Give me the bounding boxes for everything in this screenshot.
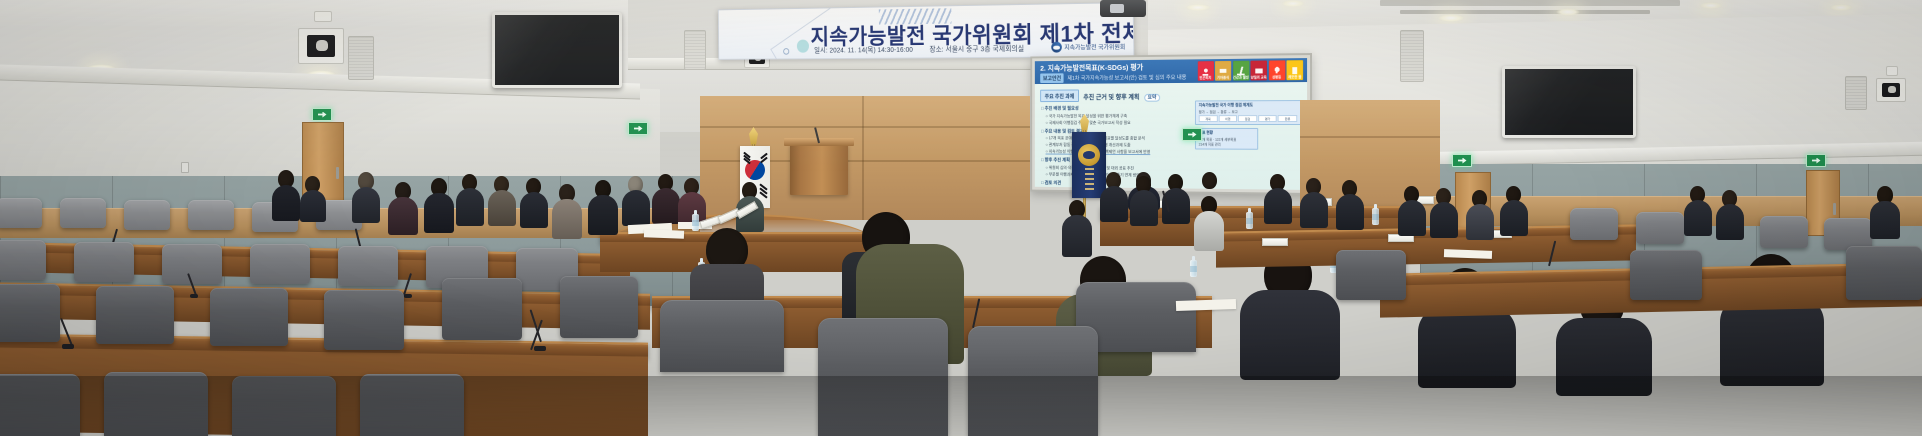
sdg-icon-2: 기아종식: [1215, 61, 1231, 81]
ceiling-light: [1556, 8, 1580, 16]
banner-location: 장소: 서울시 중구 3층 국제회의실: [929, 44, 1024, 54]
slide-block-line: ○ 지속가능성 이행현황 평가 결과 및 정책제언 사항을 보고서에 반영: [1046, 149, 1198, 156]
chair[interactable]: [324, 290, 404, 350]
wall-speaker: [1400, 30, 1424, 82]
attendee: [488, 176, 516, 224]
slide-section-headline-text: 추진 근거 및 향후 계획: [1083, 93, 1139, 100]
exit-arrow-icon: [1458, 158, 1467, 164]
chair[interactable]: [560, 276, 638, 338]
chair[interactable]: [1336, 250, 1406, 300]
slide-block-line: ○ 국가 지속가능발전 목표 달성을 위한 평가체계 구축: [1046, 113, 1198, 119]
chair[interactable]: [360, 374, 464, 436]
wood-seam: [862, 96, 864, 220]
attendee: [1500, 186, 1528, 234]
torso: [588, 195, 618, 235]
table-cell: 점검: [1238, 115, 1257, 122]
document: [644, 229, 684, 238]
attendee: [300, 176, 326, 220]
attendee: [388, 182, 418, 232]
attendee: [1336, 180, 1364, 228]
slide-panel-title: 지표 현황: [1199, 131, 1255, 136]
wall-speaker: [348, 36, 374, 80]
ceiling-camera: [298, 28, 344, 64]
camera-mount: [314, 11, 332, 22]
table-cell: 환류: [1278, 115, 1297, 122]
sdg-label-6: 깨끗한 물: [1288, 76, 1301, 80]
torso: [1130, 190, 1158, 226]
attendee: [1162, 174, 1190, 222]
table-cell: 평가: [1258, 115, 1277, 122]
sdg-icon-6: 깨끗한 물: [1286, 60, 1303, 80]
torso: [1336, 194, 1364, 230]
ceiling-light: [1282, 0, 1304, 7]
microphone-base: [62, 344, 74, 349]
ceiling-slot: [1400, 10, 1650, 14]
conference-hall-photo: 지속가능발전 국가위원회 제1차 전체회의 일시: 2024. 11. 14(목…: [0, 0, 1922, 436]
exit-arrow-icon: [318, 112, 327, 118]
door-handle[interactable]: [1833, 203, 1836, 215]
torso: [1870, 201, 1900, 239]
slide-right-column: 지속가능발전 국가 이행 점검 체계도 평가 → 점검 → 환류 → 보고 계획…: [1195, 100, 1301, 153]
chair[interactable]: [442, 278, 522, 340]
chair[interactable]: [338, 246, 398, 286]
torso: [520, 192, 548, 228]
sdg-glyph-icon: [1272, 66, 1281, 75]
sdg-icon-5: 성평등: [1268, 60, 1285, 80]
chair[interactable]: [232, 376, 336, 436]
wall-speaker: [1845, 76, 1867, 110]
sdg-icon-4: 양질의 교육: [1250, 61, 1266, 81]
torso: [1716, 204, 1744, 240]
torso: [1062, 215, 1092, 257]
attendee: [1430, 188, 1458, 236]
torso: [1194, 211, 1224, 251]
slide-section-pill: 요약: [1144, 93, 1160, 101]
slide-panel: 지속가능발전 국가 이행 점검 체계도 평가 → 점검 → 환류 → 보고 계획…: [1195, 100, 1301, 125]
torso: [1556, 318, 1652, 396]
slide-block-line: ○ 국제사회 이행점검 주기에 맞춘 국가보고서 작성 필요: [1046, 120, 1198, 126]
document: [1176, 299, 1236, 311]
exit-sign: [312, 108, 332, 121]
attendee: [1684, 186, 1712, 234]
exit-arrow-icon: [1812, 158, 1821, 164]
torso: [388, 197, 418, 235]
slide-panel-line: 214개 지표 관리: [1199, 142, 1255, 147]
chair[interactable]: [1636, 212, 1684, 244]
door-handle[interactable]: [336, 167, 339, 179]
wall-speaker: [684, 30, 706, 70]
ceiling-slot: [1380, 0, 1680, 6]
exit-sign: [1452, 154, 1472, 167]
wood-seam: [1300, 136, 1440, 138]
sdg-icon-row: 빈곤퇴치 기아종식 건강과 웰빙 양질의 교육 성평등: [1197, 60, 1303, 81]
sdg-glyph-icon: [1290, 66, 1299, 75]
ceiling-light: [1830, 4, 1852, 11]
attendee: [352, 172, 380, 220]
attendee: [588, 180, 618, 232]
torso: [1466, 204, 1494, 240]
camera-lens-icon: [307, 35, 335, 56]
attendee: [272, 170, 300, 218]
attendee: [1194, 196, 1224, 248]
slide-block-heading: □ 주요 내용 및 검토 결과: [1041, 128, 1198, 134]
slide-section-chip: 주요 추진 과제: [1040, 89, 1079, 102]
chair[interactable]: [1846, 246, 1922, 300]
water-bottle: [1246, 212, 1253, 229]
chair[interactable]: [660, 300, 784, 372]
attendee: [622, 176, 650, 224]
wall-switch-plate[interactable]: [181, 162, 189, 173]
chair[interactable]: [968, 326, 1098, 436]
slide-block-heading: □ 향후 추진 계획: [1041, 157, 1198, 164]
ceiling-light: [1186, 4, 1210, 11]
chair[interactable]: [210, 288, 288, 346]
left-display: [492, 12, 622, 88]
water-bottle: [1372, 208, 1379, 225]
torso: [272, 185, 300, 221]
chair[interactable]: [0, 284, 60, 342]
chair[interactable]: [250, 244, 310, 284]
sdg-glyph-icon: [1219, 66, 1228, 75]
exit-sign: [628, 122, 648, 135]
event-banner: 지속가능발전 국가위원회 제1차 전체회의 일시: 2024. 11. 14(목…: [718, 2, 1134, 60]
slide-tag: 보고안건: [1040, 73, 1064, 83]
slide-section-headline: 추진 근거 및 향후 계획 요약: [1083, 90, 1160, 100]
government-emblem-icon: [1078, 144, 1100, 166]
flag-text: [1085, 168, 1094, 192]
sdg-icon-1: 빈곤퇴치: [1197, 61, 1213, 81]
sdg-glyph-icon: [1201, 67, 1210, 76]
attendee: [424, 178, 454, 230]
ceiling-light: [1700, 2, 1722, 9]
sdg-label-5: 성평등: [1272, 76, 1281, 79]
chair[interactable]: [818, 318, 948, 436]
banner-decoration: [783, 48, 789, 55]
chair[interactable]: [1630, 250, 1702, 300]
exit-sign: [1806, 154, 1826, 167]
chair[interactable]: [188, 200, 234, 230]
slide-block-line: ○ 17개 목표 분야별 이행현황 점검 및 지표별 달성도를 종합 분석: [1046, 135, 1198, 141]
torso: [1264, 188, 1292, 224]
attendee: [1300, 178, 1328, 226]
slide-panel-title: 지속가능발전 국가 이행 점검 체계도: [1199, 103, 1297, 108]
sdg-label-3: 건강과 웰빙: [1233, 76, 1249, 79]
slide-block-line: ○ 관계부처 합동 점검회의를 통해 부문별 개선과제 도출: [1046, 142, 1198, 148]
torso: [1300, 192, 1328, 228]
torso: [488, 190, 516, 226]
slide-subtitle: 제1차 국가지속가능성 보고서(안) 검토 및 심의 주요 내용: [1067, 73, 1186, 82]
torso: [456, 188, 484, 226]
slide-panel-table: 계획 이행 점검 평가 환류: [1199, 115, 1297, 122]
chair[interactable]: [0, 374, 80, 436]
slide-panel-line: 평가 → 점검 → 환류 → 보고: [1199, 109, 1297, 114]
torso: [652, 188, 680, 224]
banner-datetime: 일시: 2024. 11. 14(목) 14:30-16:00: [814, 45, 913, 54]
attendee: [1130, 176, 1158, 224]
banner-organization: 지속가능발전 국가위원회: [1064, 42, 1125, 51]
government-emblem-icon: [1051, 42, 1062, 53]
chair[interactable]: [1570, 208, 1618, 240]
right-display: [1502, 66, 1636, 138]
torso: [424, 193, 454, 233]
sdg-icon-3: 건강과 웰빙: [1233, 61, 1249, 81]
chair[interactable]: [1760, 216, 1808, 248]
torso: [1240, 290, 1340, 380]
sdg-glyph-icon: [1236, 66, 1245, 75]
exit-arrow-icon: [634, 126, 643, 132]
chair[interactable]: [124, 200, 170, 230]
document: [1444, 249, 1492, 259]
sdg-label-4: 양질의 교육: [1251, 76, 1267, 80]
microphone-base: [534, 346, 546, 351]
chair[interactable]: [104, 372, 208, 436]
torso: [1100, 186, 1128, 222]
torso: [1418, 306, 1516, 388]
water-bottle: [1190, 260, 1197, 277]
chair[interactable]: [0, 240, 46, 280]
torso: [552, 199, 582, 239]
lectern: [790, 143, 848, 195]
attendee: [1100, 172, 1128, 220]
chair[interactable]: [74, 242, 134, 282]
attendee: [1398, 186, 1426, 234]
torso: [1398, 200, 1426, 236]
sdg-label-1: 빈곤퇴치: [1199, 76, 1211, 79]
table-cell: 이행: [1218, 115, 1237, 122]
table-cell: 계획: [1199, 115, 1218, 122]
attendee: [456, 174, 484, 224]
chair[interactable]: [162, 244, 222, 284]
attendee: [652, 174, 680, 222]
attendee: [1870, 186, 1900, 236]
sdg-label-2: 기아종식: [1217, 76, 1229, 79]
microphone-base: [404, 294, 412, 298]
microphone-base: [190, 294, 198, 298]
attendee: [520, 178, 548, 226]
exit-sign: [1182, 128, 1202, 141]
chair[interactable]: [60, 198, 106, 228]
slide-section-bar: 주요 추진 과제 추진 근거 및 향후 계획 요약: [1040, 89, 1160, 102]
wood-seam: [700, 126, 1030, 128]
banner-logo: 지속가능발전 국가위원회: [1051, 41, 1126, 53]
attendee: [1466, 190, 1494, 238]
banner-decoration: [797, 40, 809, 53]
torso: [300, 190, 326, 222]
camera-lens-icon: [1882, 83, 1900, 97]
ceiling-camera: [1876, 78, 1906, 102]
attendee: [1062, 200, 1092, 254]
ceiling-light: [1438, 14, 1464, 22]
nameplate: [1262, 238, 1288, 246]
attendee: [1264, 174, 1292, 222]
attendee: [552, 184, 582, 236]
torso: [1684, 200, 1712, 236]
slide-block-heading: □ 추진 배경 및 필요성: [1041, 105, 1198, 111]
slide-panel: 지표 현황 17개 목표 · 122개 세부목표 214개 지표 관리: [1195, 128, 1258, 150]
torso: [352, 187, 380, 223]
exit-arrow-icon: [1188, 132, 1197, 138]
camera-mount: [1886, 66, 1898, 76]
attendee-foreground: [1240, 250, 1340, 370]
ceiling-projector: [1100, 0, 1146, 17]
torso: [622, 190, 650, 226]
torso: [1500, 200, 1528, 236]
attendee: [1716, 190, 1744, 238]
chair[interactable]: [0, 198, 42, 228]
torso: [1430, 202, 1458, 238]
slide-subheader: 보고안건 제1차 국가지속가능성 보고서(안) 검토 및 심의 주요 내용: [1040, 72, 1186, 83]
chair[interactable]: [96, 286, 174, 344]
sdg-glyph-icon: [1254, 66, 1263, 75]
